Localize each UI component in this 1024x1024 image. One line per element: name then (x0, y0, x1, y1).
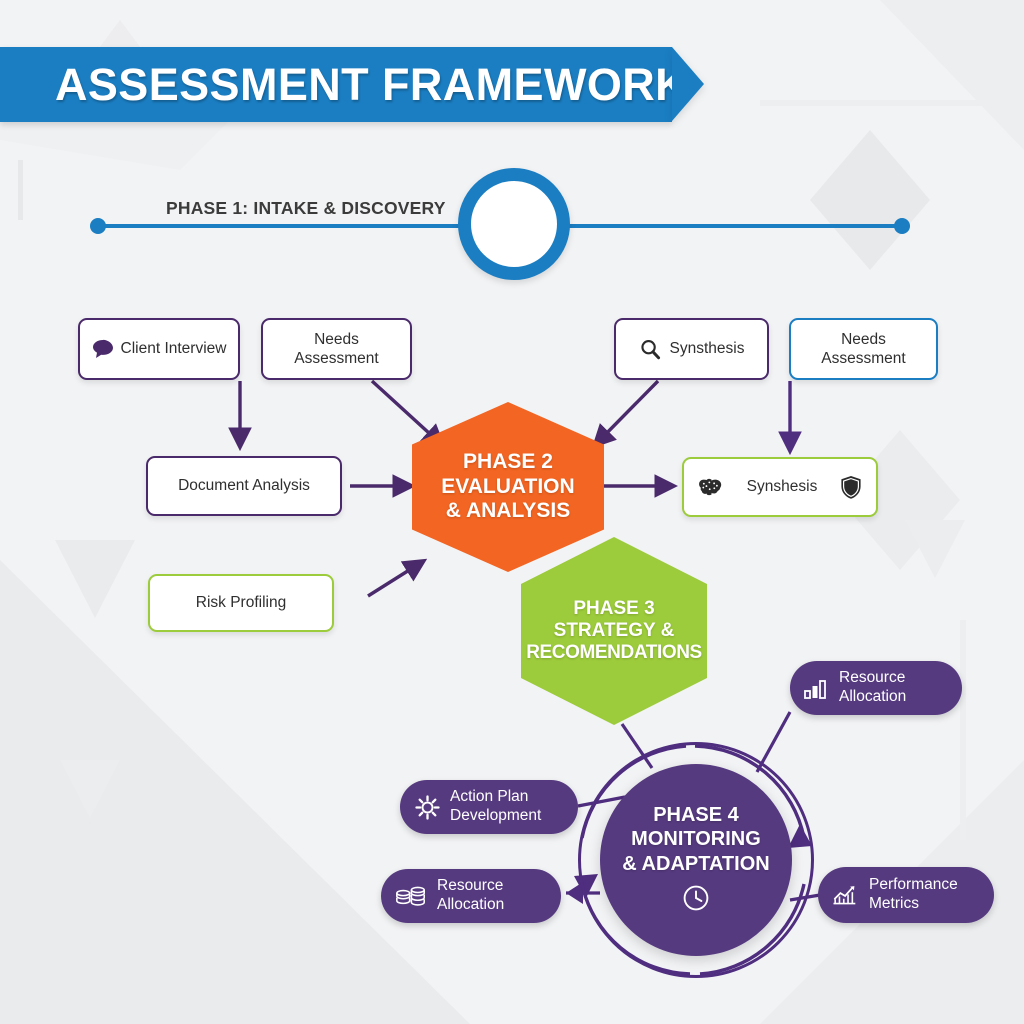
timeline-start-dot-icon (90, 218, 106, 234)
satellite-pill-label: Resource Allocation (437, 877, 504, 914)
phase-3-line2: RECOMENDATIONS (526, 642, 702, 664)
phase-3-number: PHASE 3 (526, 598, 702, 620)
satellite-pill-label: Performance Metrics (869, 876, 958, 913)
title-ribbon: ASSESSMENT FRAMEWORK (0, 47, 672, 122)
brain-icon (698, 476, 724, 498)
magnifier-icon (639, 338, 662, 361)
satellite-pill-label: Action Plan Development (450, 788, 541, 825)
phase-4-line2: & ADAPTATION (622, 852, 769, 876)
input-box-risk-profiling[interactable]: Risk Profiling (148, 574, 334, 632)
page-title: ASSESSMENT FRAMEWORK (0, 59, 688, 111)
output-box-label: Synshesis (747, 477, 818, 496)
phase-4-line1: MONITORING (622, 827, 769, 851)
satellite-pill-performance-metrics[interactable]: Performance Metrics (818, 867, 994, 923)
coin-stack-icon (395, 883, 428, 909)
clock-icon (682, 884, 710, 917)
phase-2-line1: EVALUATION (441, 475, 574, 499)
input-box-needs-assessment-2[interactable]: Needs Assessment (789, 318, 938, 380)
satellite-pill-action-plan-development[interactable]: Action Plan Development (400, 780, 578, 834)
input-box-label: Risk Profiling (196, 593, 286, 612)
phase-1-label: PHASE 1: INTAKE & DISCOVERY (166, 198, 446, 219)
input-box-label: Needs Assessment (821, 330, 905, 369)
input-box-label: Synsthesis (670, 339, 745, 358)
speech-bubble-icon (92, 339, 114, 359)
phase-2-number: PHASE 2 (441, 450, 574, 474)
phase-2-line2: & ANALYSIS (441, 499, 574, 523)
phase-3-line1: STRATEGY & (526, 620, 702, 642)
title-ribbon-arrow-tip (672, 47, 704, 121)
phase-4-circle: PHASE 4 MONITORING & ADAPTATION (600, 764, 792, 956)
input-box-needs-assessment-1[interactable]: Needs Assessment (261, 318, 412, 380)
infographic-canvas: ASSESSMENT FRAMEWORK PHASE 1: INTAKE & D… (0, 0, 1024, 1024)
shield-icon (840, 475, 862, 500)
gear-icon (414, 794, 441, 821)
phase-4-number: PHASE 4 (622, 803, 769, 827)
timeline-end-dot-icon (894, 218, 910, 234)
input-box-label: Document Analysis (178, 476, 310, 495)
input-box-label: Needs Assessment (294, 330, 378, 369)
output-box-synshesis[interactable]: Synshesis (682, 457, 878, 517)
satellite-pill-label: Resource Allocation (839, 669, 906, 706)
bar-chart-icon (804, 677, 830, 699)
phase-1-circle-node (458, 168, 570, 280)
input-box-client-interview[interactable]: Client Interview (78, 318, 240, 380)
input-box-label: Client Interview (121, 339, 227, 358)
satellite-pill-resource-allocation-coins[interactable]: Resource Allocation (381, 869, 561, 923)
input-box-document-analysis[interactable]: Document Analysis (146, 456, 342, 516)
trend-chart-icon (832, 882, 860, 908)
satellite-pill-resource-allocation-chart[interactable]: Resource Allocation (790, 661, 962, 715)
input-box-synsthesis[interactable]: Synsthesis (614, 318, 769, 380)
